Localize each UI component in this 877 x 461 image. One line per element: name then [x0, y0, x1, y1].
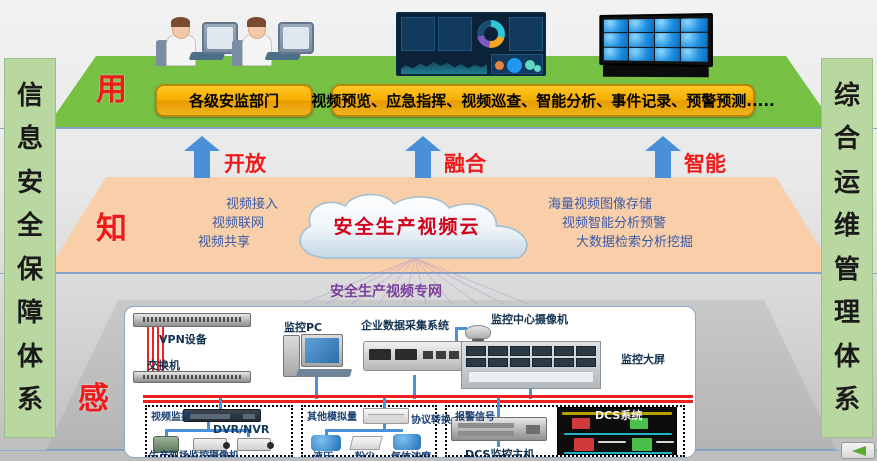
cloud-left-item-3: 视频共享: [128, 234, 250, 253]
private-network-label: 安全生产视频专网: [330, 281, 442, 301]
label-switch: 交换机: [147, 357, 180, 373]
cloud-right-item-3: 大数据检索分析挖掘: [576, 234, 758, 253]
corner-tab-widget[interactable]: [841, 442, 875, 459]
bus-line-lower: [143, 400, 693, 403]
cloud-right-item-2: 视频智能分析预警: [562, 215, 758, 234]
band-divider-top: [0, 128, 877, 129]
pillar-right-char-4: 维: [834, 213, 860, 239]
pillar-operations-management: 综 合 运 维 管 理 体 系: [821, 58, 873, 438]
arrow-fusion: [405, 136, 441, 178]
label-alarm-signal: 报警信号: [455, 408, 495, 423]
pillar-left-char-1: 信: [17, 83, 43, 109]
pillar-information-security: 信 息 安 全 保 障 体 系: [4, 58, 56, 438]
pillar-left-char-7: 体: [17, 344, 43, 370]
cloud-left-item-1: 视频接入: [128, 196, 278, 215]
pillar-right-char-1: 综: [834, 83, 860, 109]
label-field-cameras: 生产现场监控摄像机: [149, 447, 239, 458]
layer-letter-know: 知: [96, 203, 127, 248]
label-monitor-pc: 监控PC: [284, 319, 322, 335]
cloud-left-capabilities: 视频接入 视频联网 视频共享: [128, 196, 278, 253]
arrow-intelligent: [645, 136, 681, 178]
pillar-right-char-5: 管: [834, 257, 860, 283]
bus-line-upper: [143, 395, 693, 398]
pillar-left-char-3: 安: [17, 170, 43, 196]
cloud-right-capabilities: 海量视频图像存储 视频智能分析预警 大数据检索分析挖掘: [548, 196, 758, 253]
infrastructure-panel: VPN设备 交换机 监控PC 企业数据采集系统 监控中心摄像机: [124, 306, 696, 458]
device-pc-monitor: [301, 334, 343, 367]
label-big-screen: 监控大屏: [621, 351, 665, 367]
arrow-label-intelligent: 智能: [684, 148, 726, 178]
illustration-operators: [150, 8, 310, 66]
link-dvr-cam2: [207, 422, 210, 432]
cloud-title: 安全生产视频云: [278, 212, 536, 239]
label-dcs-host: DCS监控主机: [465, 446, 534, 458]
label-dcs-system: DCS系统: [595, 407, 642, 423]
label-vpn: VPN设备: [159, 331, 207, 347]
pillar-right-char-8: 系: [834, 387, 860, 413]
cloud-left-item-2: 视频联网: [128, 215, 264, 234]
pillar-left-char-8: 系: [17, 387, 43, 413]
device-data-collector: [363, 335, 463, 375]
layer-letter-sense: 感: [78, 373, 109, 418]
device-dvr-nvr: [183, 409, 261, 422]
illustration-dashboard: [396, 12, 546, 76]
pillar-left-char-4: 全: [17, 213, 43, 239]
box-supervision-departments[interactable]: 各级安监部门: [155, 84, 313, 117]
label-data-collector: 企业数据采集系统: [361, 317, 449, 333]
pillar-left-char-6: 障: [17, 300, 43, 326]
label-video-surveillance: 视频监控: [151, 408, 191, 423]
cloud-right-item-1: 海量视频图像存储: [548, 196, 758, 215]
layer-letter-use: 用: [96, 64, 127, 109]
diagram-canvas: 用 知 感 各级安监部门 视频预览、应急指挥、视频巡查、智能分析、事件记录、预警…: [0, 0, 877, 461]
pillar-left-char-2: 息: [17, 126, 43, 152]
device-control-console: [461, 341, 601, 389]
arrow-label-open: 开放: [224, 148, 266, 178]
box-platform-functions[interactable]: 视频预览、应急指挥、视频巡查、智能分析、事件记录、预警预测.....: [331, 84, 755, 117]
label-hydraulic: 液压: [313, 448, 333, 458]
pillar-right-char-6: 理: [834, 300, 860, 326]
device-pc-keyboard: [296, 369, 353, 377]
link-converter-sensors-h: [325, 429, 403, 432]
pillar-left-char-5: 保: [17, 257, 43, 283]
label-protocol-converter: 协议转换: [411, 411, 451, 426]
arrow-open: [184, 136, 220, 178]
label-center-camera: 监控中心摄像机: [491, 311, 568, 327]
device-box-camera-2: [237, 438, 271, 451]
illustration-video-wall: [596, 14, 712, 66]
link-converter-sensors-v: [383, 423, 386, 431]
arrow-label-fusion: 融合: [444, 148, 486, 178]
pillar-right-char-2: 合: [834, 126, 860, 152]
pillar-right-char-3: 运: [834, 170, 860, 196]
device-protocol-converter: [363, 408, 409, 424]
pillar-right-char-7: 体: [834, 344, 860, 370]
device-vpn: [133, 313, 251, 327]
link-dcs-bus: [497, 398, 500, 418]
label-dvr-nvr: DVR/NVR: [213, 423, 269, 436]
label-dust: 粉尘: [355, 448, 375, 458]
label-gas-concentration: 气体浓度: [391, 448, 431, 458]
label-analog-signals: 其他模拟量: [307, 408, 357, 423]
green-arrow-icon: [850, 446, 866, 456]
device-ptz-camera: [465, 325, 491, 339]
